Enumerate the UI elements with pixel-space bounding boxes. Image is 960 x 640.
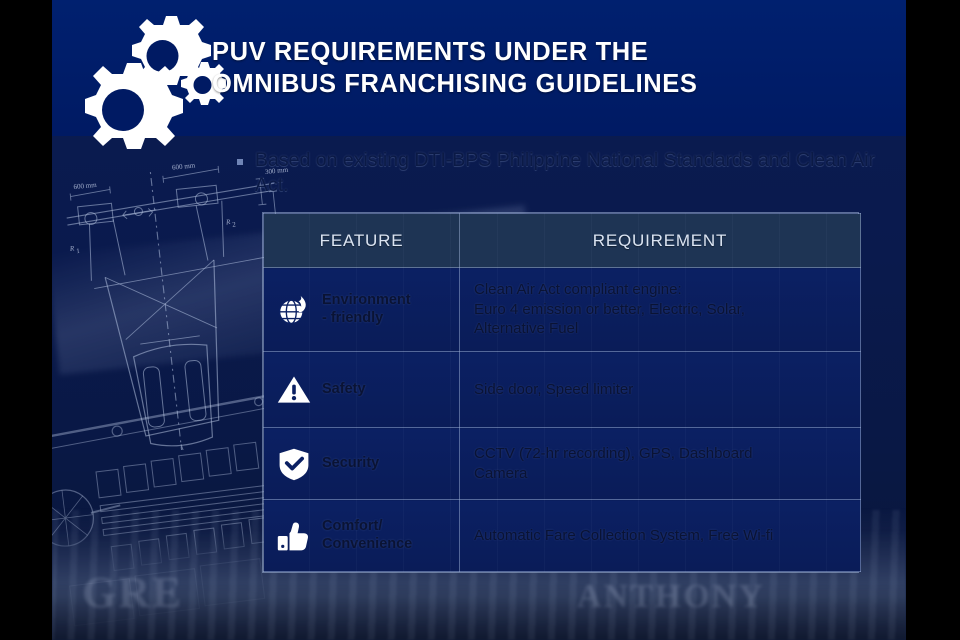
requirement-cell: Side door, Speed limiter <box>460 352 861 428</box>
ghost-text-left: GRE <box>82 567 183 618</box>
shield-check-icon <box>276 446 312 482</box>
table-header-row: FEATURE REQUIREMENT <box>264 214 861 268</box>
warning-triangle-icon <box>276 372 312 408</box>
page-title-line1: PUV REQUIREMENTS UNDER THE <box>212 36 902 68</box>
feature-label: Environment - friendly <box>322 292 411 327</box>
square-bullet-icon <box>237 159 243 165</box>
slide-screenshot: R 1 R 2 600 mm 600 mm 300 mm 2,000 mm <box>0 0 960 640</box>
page-title: PUV REQUIREMENTS UNDER THE OMNIBUS FRANC… <box>212 36 902 100</box>
requirement-cell: CCTV (72-hr recording), GPS, Dashboard C… <box>460 428 861 500</box>
feature-cell: Environment - friendly <box>264 268 460 352</box>
requirements-table: FEATURE REQUIREMENT <box>262 212 859 573</box>
svg-text:R: R <box>225 218 232 227</box>
feature-label: Safety <box>322 381 366 399</box>
feature-cell: Safety <box>264 352 460 428</box>
bullet-item-label: Based on existing DTI-BPS Philippine Nat… <box>255 148 877 198</box>
feature-cell: Comfort/ Convenience <box>264 500 460 572</box>
bullet-item: Based on existing DTI-BPS Philippine Nat… <box>237 148 877 198</box>
slide-header-band: PUV REQUIREMENTS UNDER THE OMNIBUS FRANC… <box>52 0 906 136</box>
page-title-line2: OMNIBUS FRANCHISING GUIDELINES <box>212 68 902 100</box>
feature-label: Security <box>322 455 379 473</box>
feature-label: Comfort/ Convenience <box>322 518 412 553</box>
three-gears-icon <box>76 8 226 163</box>
table-row: Safety Side door, Speed limiter <box>264 352 861 428</box>
table-row: Security CCTV (72-hr recording), GPS, Da… <box>264 428 861 500</box>
presentation-slide: R 1 R 2 600 mm 600 mm 300 mm 2,000 mm <box>52 0 906 640</box>
globe-leaf-icon <box>276 292 312 328</box>
thumbs-up-icon <box>276 518 312 554</box>
column-header-feature: FEATURE <box>264 214 460 268</box>
requirement-cell: Automatic Fare Collection System, Free W… <box>460 500 861 572</box>
ghost-text-right: ANTHONY <box>577 578 765 616</box>
svg-text:600 mm: 600 mm <box>73 181 97 191</box>
table-row: Comfort/ Convenience Automatic Fare Coll… <box>264 500 861 572</box>
feature-cell: Security <box>264 428 460 500</box>
column-header-requirement: REQUIREMENT <box>460 214 861 268</box>
svg-text:2: 2 <box>232 220 237 228</box>
table-row: Environment - friendly Clean Air Act com… <box>264 268 861 352</box>
requirement-cell: Clean Air Act compliant engine: Euro 4 e… <box>460 268 861 352</box>
